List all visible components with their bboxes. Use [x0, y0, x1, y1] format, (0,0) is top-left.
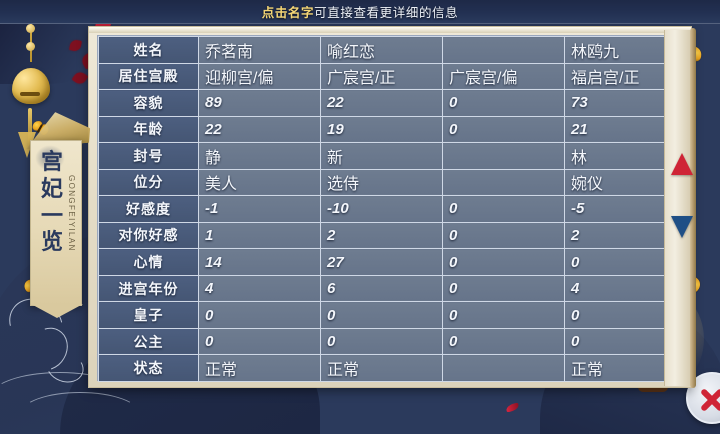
cell-3-2: 0: [443, 116, 565, 143]
title-char-4: 览: [37, 229, 67, 256]
row-label-1: 居住宫殿: [99, 63, 199, 90]
bell-body-icon: [12, 68, 50, 104]
concubine-name-cell-2[interactable]: [443, 37, 565, 64]
cell-12-0: 正常: [199, 355, 321, 382]
row-label-8: 心情: [99, 249, 199, 276]
cell-10-1: 0: [321, 302, 443, 329]
hint-rest: 可直接查看更详细的信息: [314, 6, 458, 20]
row-label-11: 公主: [99, 328, 199, 355]
bell-slit: [20, 92, 40, 96]
cell-5-1: 选侍: [321, 169, 443, 196]
concubine-table: 姓名乔茗南喻红恋林鸥九居住宫殿迎柳宫/偏广宸宫/正广宸宫/偏福启宫/正容貌892…: [98, 36, 687, 382]
scroll-up-arrow-icon[interactable]: [671, 153, 693, 175]
cell-6-0: -1: [199, 196, 321, 223]
concubine-list-panel: 姓名乔茗南喻红恋林鸥九居住宫殿迎柳宫/偏广宸宫/正广宸宫/偏福启宫/正容貌892…: [88, 26, 692, 388]
title-char-3: 一: [37, 203, 67, 230]
cell-1-0: 迎柳宫/偏: [199, 63, 321, 90]
table-row: 心情142700: [99, 249, 687, 276]
title-char-2: 妃: [37, 176, 67, 203]
table-body: 姓名乔茗南喻红恋林鸥九居住宫殿迎柳宫/偏广宸宫/正广宸宫/偏福启宫/正容貌892…: [99, 37, 687, 382]
scroll-rod: [690, 28, 696, 388]
row-label-12: 状态: [99, 355, 199, 382]
bell-bead-1: [26, 24, 35, 33]
cell-5-2: [443, 169, 565, 196]
cell-6-1: -10: [321, 196, 443, 223]
cell-11-0: 0: [199, 328, 321, 355]
game-screen: 点击名字可直接查看更详细的信息 姓名乔茗南喻红恋林鸥九居住宫殿迎柳宫/偏广宸宫/…: [0, 0, 720, 434]
panel-title-cn: 宫 妃 一 览: [37, 149, 67, 256]
cell-1-2: 广宸宫/偏: [443, 63, 565, 90]
row-label-6: 好感度: [99, 196, 199, 223]
table-row: 姓名乔茗南喻红恋林鸥九: [99, 37, 687, 64]
row-label-10: 皇子: [99, 302, 199, 329]
table-row: 居住宫殿迎柳宫/偏广宸宫/正广宸宫/偏福启宫/正: [99, 63, 687, 90]
cell-4-0: 静: [199, 143, 321, 170]
cell-4-1: 新: [321, 143, 443, 170]
table-container: 姓名乔茗南喻红恋林鸥九居住宫殿迎柳宫/偏广宸宫/正广宸宫/偏福启宫/正容貌892…: [97, 35, 685, 381]
cell-4-2: [443, 143, 565, 170]
table-row: 位分美人选侍婉仪: [99, 169, 687, 196]
table-row: 进宫年份4604: [99, 275, 687, 302]
falling-petal-3: [505, 402, 519, 412]
panel-title-tab: 宫 妃 一 览 GONGFEIYILAN: [30, 140, 82, 306]
cell-7-2: 0: [443, 222, 565, 249]
cell-8-2: 0: [443, 249, 565, 276]
hint-banner: 点击名字可直接查看更详细的信息: [0, 0, 720, 24]
row-label-5: 位分: [99, 169, 199, 196]
cell-11-2: 0: [443, 328, 565, 355]
cell-9-0: 4: [199, 275, 321, 302]
table-row: 好感度-1-100-5: [99, 196, 687, 223]
row-label-9: 进宫年份: [99, 275, 199, 302]
cell-8-0: 14: [199, 249, 321, 276]
cell-8-1: 27: [321, 249, 443, 276]
cell-2-0: 89: [199, 90, 321, 117]
hint-banner-text: 点击名字可直接查看更详细的信息: [262, 2, 459, 21]
scroll-rail[interactable]: [664, 30, 690, 386]
hint-highlight: 点击名字: [262, 6, 314, 20]
cell-10-2: 0: [443, 302, 565, 329]
concubine-name-cell-0[interactable]: 乔茗南: [199, 37, 321, 64]
cell-5-0: 美人: [199, 169, 321, 196]
row-label-2: 容貌: [99, 90, 199, 117]
cell-6-2: 0: [443, 196, 565, 223]
table-row: 皇子0000: [99, 302, 687, 329]
cell-7-0: 1: [199, 222, 321, 249]
concubine-name-cell-1[interactable]: 喻红恋: [321, 37, 443, 64]
cell-9-2: 0: [443, 275, 565, 302]
cell-3-0: 22: [199, 116, 321, 143]
table-row: 容貌8922073: [99, 90, 687, 117]
cell-10-0: 0: [199, 302, 321, 329]
panel-title-pinyin: GONGFEIYILAN: [67, 175, 76, 252]
wave-line-2: [20, 392, 140, 434]
bell-bead-2: [26, 42, 35, 51]
title-char-1: 宫: [37, 149, 67, 176]
cell-12-2: [443, 355, 565, 382]
row-label-0: 姓名: [99, 37, 199, 64]
table-row: 状态正常正常正常: [99, 355, 687, 382]
cell-9-1: 6: [321, 275, 443, 302]
cell-7-1: 2: [321, 222, 443, 249]
row-label-3: 年龄: [99, 116, 199, 143]
cell-1-1: 广宸宫/正: [321, 63, 443, 90]
scroll-down-arrow-icon[interactable]: [671, 216, 693, 238]
cell-12-1: 正常: [321, 355, 443, 382]
cell-2-2: 0: [443, 90, 565, 117]
table-row: 年龄2219021: [99, 116, 687, 143]
table-row: 公主0000: [99, 328, 687, 355]
table-row: 对你好感1202: [99, 222, 687, 249]
cell-3-1: 19: [321, 116, 443, 143]
cell-11-1: 0: [321, 328, 443, 355]
cell-2-1: 22: [321, 90, 443, 117]
row-label-7: 对你好感: [99, 222, 199, 249]
row-label-4: 封号: [99, 143, 199, 170]
table-row: 封号静新林: [99, 143, 687, 170]
